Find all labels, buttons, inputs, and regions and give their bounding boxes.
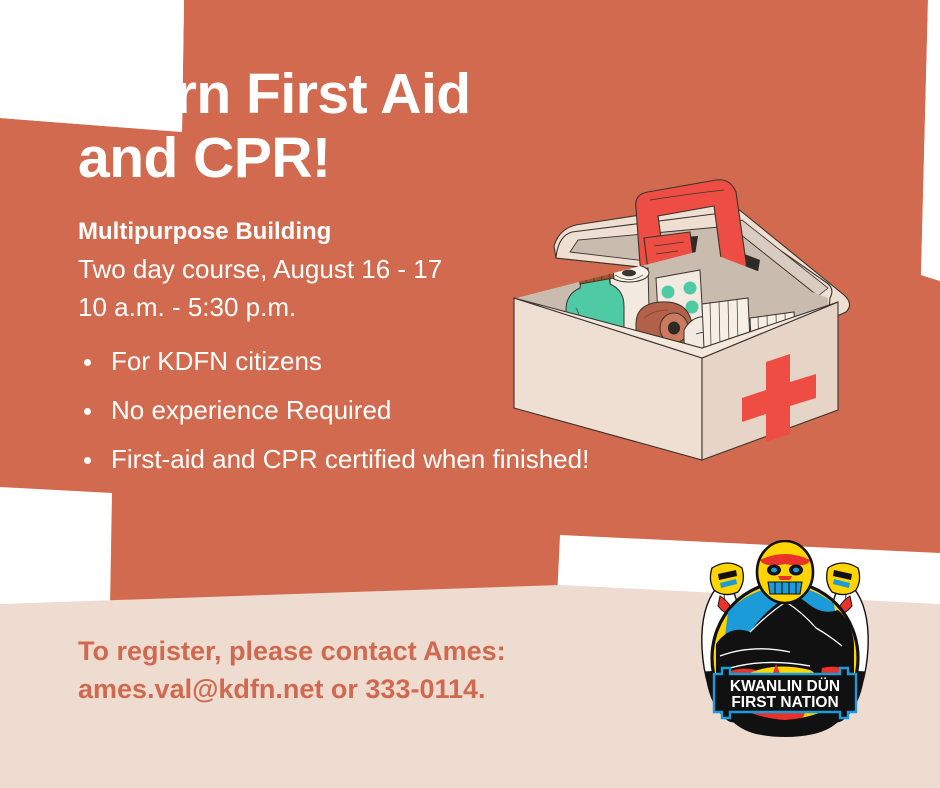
logo-nameplate: KWANLIN DÜN FIRST NATION — [714, 668, 856, 718]
logo-text-line-1: KWANLIN DÜN — [730, 678, 840, 695]
bullet-dot-icon — [84, 359, 91, 366]
bullet-dot-icon — [84, 457, 91, 464]
requirements-list: For KDFN citizens No experience Required… — [78, 348, 718, 472]
list-item: For KDFN citizens — [78, 348, 718, 374]
logo-medallion: KWANLIN DÜN FIRST NATION — [712, 582, 858, 737]
contact-block: To register, please contact Ames: ames.v… — [78, 632, 678, 709]
course-dates-line: Two day course, August 16 - 17 — [78, 251, 718, 289]
logo-top-mask — [757, 541, 813, 603]
logo-text-line-2: FIRST NATION — [731, 694, 838, 711]
list-item: First-aid and CPR certified when finishe… — [78, 446, 718, 472]
poster-canvas: Learn First Aid and CPR! Multipurpose Bu… — [0, 0, 940, 788]
venue-label: Multipurpose Building — [78, 217, 718, 247]
list-item-label: No experience Required — [111, 395, 391, 425]
poster-text-content: Learn First Aid and CPR! Multipurpose Bu… — [78, 62, 718, 495]
background-white-notch-left — [0, 487, 112, 608]
contact-line-1: To register, please contact Ames: — [78, 632, 678, 670]
contact-line-2: ames.val@kdfn.net or 333-0114. — [78, 670, 678, 708]
kdfn-logo: KWANLIN DÜN FIRST NATION — [690, 540, 880, 750]
list-item-label: First-aid and CPR certified when finishe… — [111, 444, 589, 474]
course-times-line: 10 a.m. - 5:30 p.m. — [78, 289, 718, 327]
list-item-label: For KDFN citizens — [111, 346, 322, 376]
bullet-dot-icon — [84, 408, 91, 415]
list-item: No experience Required — [78, 397, 718, 423]
page-title: Learn First Aid and CPR! — [78, 62, 718, 191]
